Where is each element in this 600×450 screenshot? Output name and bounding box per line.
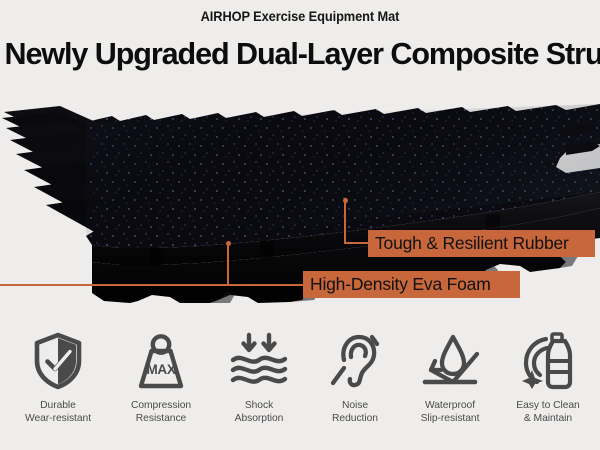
feature-label: Easy to Clean & Maintain <box>498 399 598 425</box>
brand-subtitle: AIRHOP Exercise Equipment Mat <box>15 9 585 24</box>
shock-waves-icon <box>209 330 309 392</box>
feature-easy-to-clean: Easy to Clean & Maintain <box>498 330 598 425</box>
feature-label: Compression Resistance <box>111 399 211 425</box>
foam-leader-vertical <box>227 243 229 285</box>
page-title: Newly Upgraded Dual-Layer Composite Stru… <box>5 36 596 72</box>
callout-tough-resilient-rubber: Tough & Resilient Rubber <box>368 230 595 257</box>
feature-label-line1: Waterproof <box>425 400 475 411</box>
feature-label-line1: Easy to Clean <box>516 400 579 411</box>
feature-label-line1: Noise <box>342 400 368 411</box>
product-infographic: AIRHOP Exercise Equipment Mat Newly Upgr… <box>0 0 600 450</box>
weight-max-icon: MAX <box>111 330 211 392</box>
feature-label-line2: & Maintain <box>524 413 572 424</box>
feature-compression-resistance: MAX Compression Resistance <box>111 330 211 425</box>
svg-text:MAX: MAX <box>146 362 175 377</box>
feature-label: Durable Wear-resistant <box>8 399 108 425</box>
rubber-leader-horizontal <box>344 242 370 244</box>
feature-label-line1: Compression <box>131 400 191 411</box>
feature-noise-reduction: Noise Reduction <box>305 330 405 425</box>
feature-label-line2: Resistance <box>136 413 186 424</box>
feature-label-line1: Shock <box>245 400 273 411</box>
spray-bottle-icon <box>498 330 598 392</box>
feature-label-line2: Slip-resistant <box>421 413 480 424</box>
callout-label: Tough & Resilient Rubber <box>375 233 569 254</box>
shield-check-icon <box>8 330 108 392</box>
rubber-leader-vertical <box>344 200 346 243</box>
water-droplet-icon <box>400 330 500 392</box>
feature-label-line2: Absorption <box>235 413 284 424</box>
feature-waterproof-slip-resistant: Waterproof Slip-resistant <box>400 330 500 425</box>
feature-label-line2: Reduction <box>332 413 378 424</box>
feature-label: Waterproof Slip-resistant <box>400 399 500 425</box>
feature-label: Shock Absorption <box>209 399 309 425</box>
feature-label: Noise Reduction <box>305 399 405 425</box>
feature-durable-wear-resistant: Durable Wear-resistant <box>8 330 108 425</box>
callout-high-density-eva-foam: High-Density Eva Foam <box>303 271 520 298</box>
callout-label: High-Density Eva Foam <box>310 274 491 295</box>
feature-label-line1: Durable <box>40 400 76 411</box>
feature-label-line2: Wear-resistant <box>25 413 91 424</box>
ear-icon <box>305 330 405 392</box>
feature-shock-absorption: Shock Absorption <box>209 330 309 425</box>
feature-row: Durable Wear-resistant MAX Compression R… <box>0 330 600 450</box>
foam-leader-horizontal <box>0 284 305 286</box>
